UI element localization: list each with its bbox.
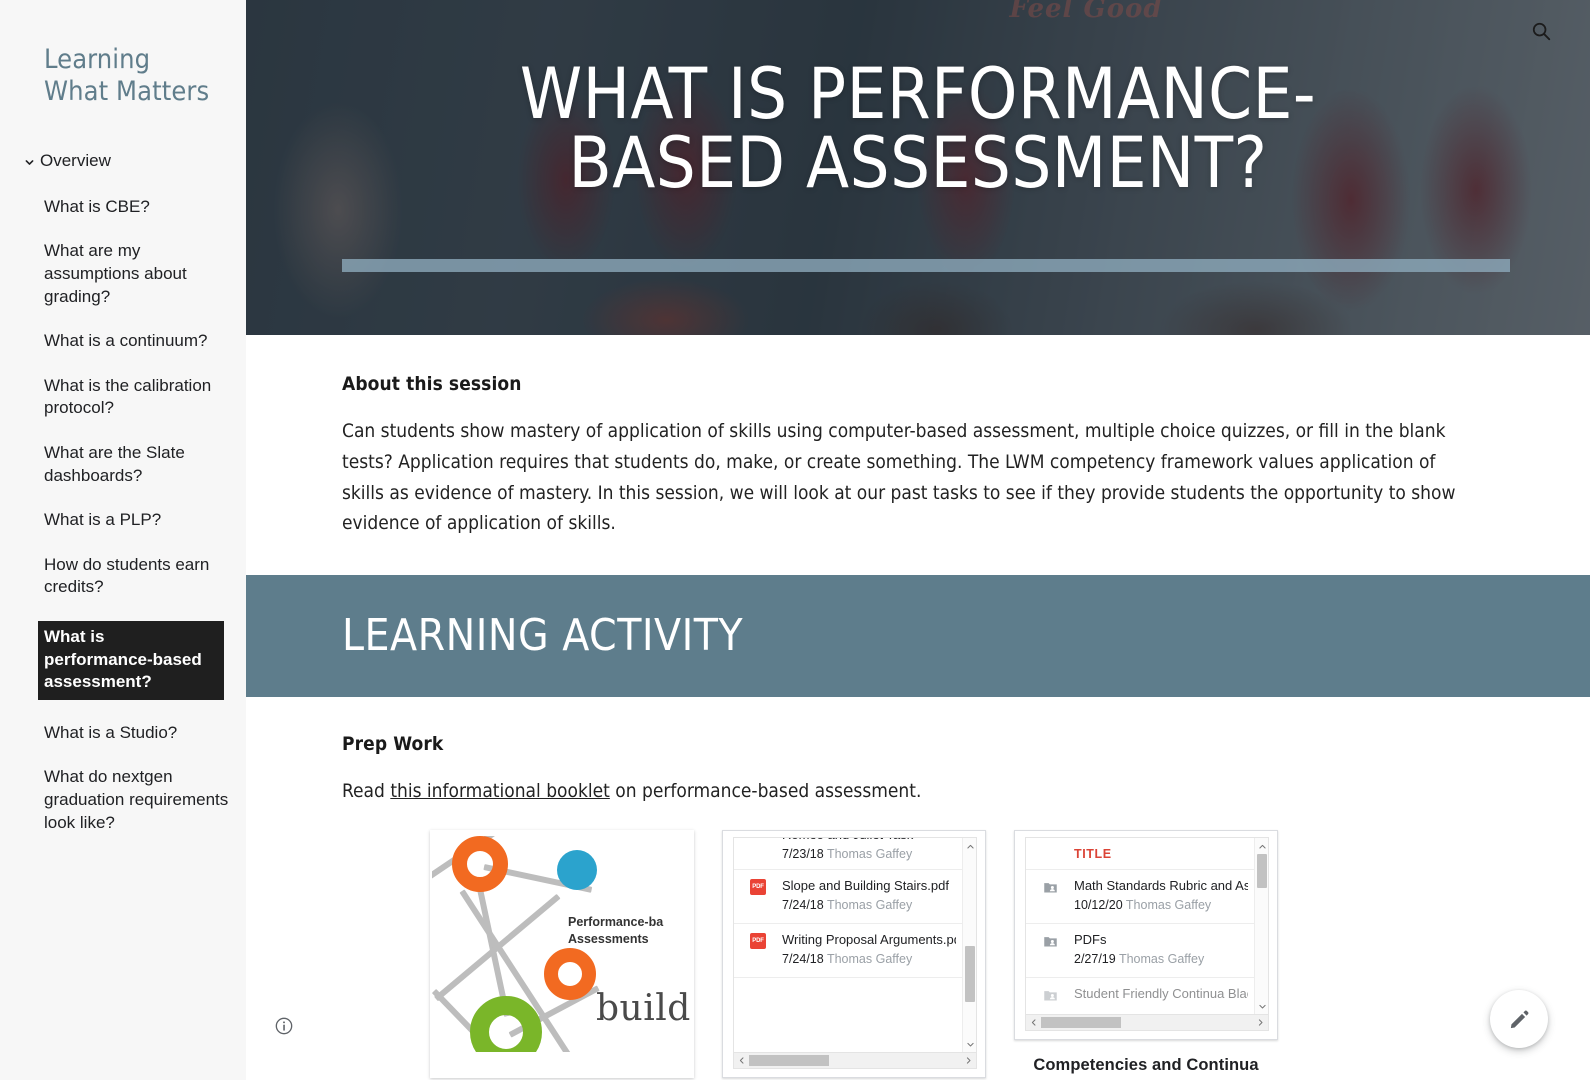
vertical-scrollbar[interactable] — [962, 838, 976, 1052]
scroll-down-icon[interactable] — [963, 1037, 977, 1051]
sidebar-item-what-is-cbe[interactable]: What is CBE? — [0, 196, 246, 219]
drive-body: TITLE Math Standards Rubric and Asses 10… — [1025, 837, 1269, 1014]
hero-inner: WHAT IS PERFORMANCE-BASED ASSESSMENT? — [246, 0, 1590, 335]
sidebar-item-calibration-protocol[interactable]: What is the calibration protocol? — [0, 375, 246, 420]
scroll-left-icon[interactable] — [734, 1053, 749, 1068]
info-icon[interactable] — [274, 1016, 296, 1038]
sidebar-group-overview[interactable]: Overview — [0, 150, 246, 174]
sidebar-item-assumptions-about-grading[interactable]: What are my assumptions about grading? — [0, 240, 246, 308]
sidebar: Learning What Matters Overview What is C… — [0, 0, 246, 1080]
list-item-owner: Thomas Gaffey — [1126, 898, 1211, 912]
list-item-date: 7/24/18 — [782, 898, 824, 912]
list-item-date: 7/23/18 — [782, 847, 824, 861]
scroll-up-icon[interactable] — [1255, 839, 1269, 853]
page-title: WHAT IS PERFORMANCE-BASED ASSESSMENT? — [428, 60, 1408, 199]
list-item-name: Math Standards Rubric and Asses — [1074, 877, 1248, 896]
poster-label-line2: Assessments — [568, 932, 649, 946]
main-content: Feel Good WHAT IS PERFORMANCE-BASED ASSE… — [246, 0, 1590, 1080]
list-item-owner: Thomas Gaffey — [827, 847, 912, 861]
horizontal-scrollbar[interactable] — [1025, 1014, 1269, 1031]
embed-card-files[interactable]: DOC Romeo and Juliet Task 7/23/18 Thomas… — [722, 830, 986, 1078]
scroll-down-icon[interactable] — [1255, 999, 1269, 1013]
learning-activity-banner: LEARNING ACTIVITY — [246, 575, 1590, 697]
drive-embed: DOC Romeo and Juliet Task 7/23/18 Thomas… — [723, 831, 985, 1077]
vertical-scrollbar[interactable] — [1254, 838, 1268, 1014]
drive-embed: TITLE Math Standards Rubric and Asses 10… — [1015, 831, 1277, 1039]
horizontal-scrollbar-thumb[interactable] — [1041, 1017, 1121, 1028]
list-item-name: Student Friendly Continua Black — [1074, 985, 1248, 1004]
about-heading: About this session — [342, 373, 1490, 395]
prep-work-text: Read this informational booklet on perfo… — [342, 776, 1490, 806]
sidebar-item-how-students-earn-credits[interactable]: How do students earn credits? — [0, 554, 246, 599]
folder-shared-icon — [1042, 987, 1058, 1003]
poster-dot-blue — [557, 850, 597, 890]
about-paragraph: Can students show mastery of application… — [342, 416, 1462, 539]
embed-card-competencies[interactable]: TITLE Math Standards Rubric and Asses 10… — [1014, 830, 1278, 1078]
chevron-down-icon[interactable] — [18, 152, 40, 174]
sidebar-item-slate-dashboards[interactable]: What are the Slate dashboards? — [0, 442, 246, 487]
drive-scroll-region[interactable]: DOC Romeo and Juliet Task 7/23/18 Thomas… — [734, 838, 962, 1052]
list-item-date: 2/27/19 — [1074, 952, 1116, 966]
poster-ring-orange — [452, 836, 508, 892]
list-item[interactable]: Math Standards Rubric and Asses 10/12/20… — [1026, 870, 1254, 924]
prep-work-section: Prep Work Read this informational bookle… — [246, 697, 1590, 1078]
scroll-left-icon[interactable] — [1026, 1015, 1041, 1030]
sidebar-item-performance-based-assessment[interactable]: What is performance-based assessment? — [38, 621, 224, 700]
horizontal-scrollbar[interactable] — [733, 1052, 977, 1069]
list-item-date: 10/12/20 — [1074, 898, 1123, 912]
list-item[interactable]: PDFs 2/27/19 Thomas Gaffey — [1026, 924, 1254, 978]
list-item[interactable]: PDF Writing Proposal Arguments.pdf 7/24/… — [734, 924, 962, 978]
pdf-icon: PDF — [750, 933, 766, 949]
list-item[interactable]: DOC Romeo and Juliet Task 7/23/18 Thomas… — [734, 838, 962, 870]
poster-frame[interactable]: Performance-ba Assessments buildin — [430, 830, 694, 1078]
drive-body: DOC Romeo and Juliet Task 7/23/18 Thomas… — [733, 837, 977, 1052]
scroll-right-icon[interactable] — [961, 1053, 976, 1068]
list-item-meta: 2/27/19 Thomas Gaffey — [1074, 952, 1248, 966]
list-item-name: PDFs — [1074, 931, 1248, 950]
drive-frame[interactable]: TITLE Math Standards Rubric and Asses 10… — [1014, 830, 1278, 1040]
poster-inner: Performance-ba Assessments buildin — [432, 836, 692, 1052]
embed-card-poster[interactable]: Performance-ba Assessments buildin — [430, 830, 694, 1078]
site-title[interactable]: Learning What Matters — [0, 0, 246, 108]
vertical-scrollbar-thumb[interactable] — [1257, 854, 1267, 888]
scroll-right-icon[interactable] — [1253, 1015, 1268, 1030]
poster-ring-green — [470, 996, 542, 1052]
list-item-meta: 10/12/20 Thomas Gaffey — [1074, 898, 1248, 912]
card-caption: Competencies and Continua — [1014, 1056, 1278, 1075]
prep-text-before: Read — [342, 780, 390, 802]
informational-booklet-link[interactable]: this informational booklet — [390, 780, 610, 802]
prep-work-heading: Prep Work — [342, 733, 1490, 755]
sidebar-item-nextgen-graduation-requirements[interactable]: What do nextgen graduation requirements … — [0, 766, 246, 834]
pdf-icon: PDF — [750, 879, 766, 895]
drive-frame[interactable]: DOC Romeo and Juliet Task 7/23/18 Thomas… — [722, 830, 986, 1078]
column-header-title[interactable]: TITLE — [1026, 838, 1254, 870]
poster-label-line1: Performance-ba — [568, 915, 663, 929]
pencil-icon — [1508, 1008, 1531, 1031]
list-item-meta: 7/24/18 Thomas Gaffey — [782, 898, 956, 912]
edit-fab-button[interactable] — [1490, 990, 1548, 1048]
prep-text-after: on performance-based assessment. — [610, 780, 922, 802]
poster-wordmark: buildin — [596, 988, 692, 1029]
list-item-owner: Thomas Gaffey — [827, 898, 912, 912]
sidebar-group-label: Overview — [40, 150, 111, 173]
hero-accent-bar — [342, 259, 1510, 272]
list-item-name: Romeo and Juliet Task — [782, 838, 956, 845]
list-item-meta: 7/24/18 Thomas Gaffey — [782, 952, 956, 966]
sidebar-item-what-is-a-plp[interactable]: What is a PLP? — [0, 509, 246, 532]
sidebar-nav: Overview What is CBE? What are my assump… — [0, 150, 246, 835]
list-item-owner: Thomas Gaffey — [827, 952, 912, 966]
sidebar-item-what-is-a-studio[interactable]: What is a Studio? — [0, 722, 246, 745]
list-item[interactable]: Student Friendly Continua Black — [1026, 978, 1254, 1014]
page-root: Learning What Matters Overview What is C… — [0, 0, 1590, 1080]
search-icon[interactable] — [1524, 14, 1558, 48]
sidebar-item-what-is-a-continuum[interactable]: What is a continuum? — [0, 330, 246, 353]
vertical-scrollbar-thumb[interactable] — [965, 946, 975, 1002]
list-item-owner: Thomas Gaffey — [1119, 952, 1204, 966]
learning-activity-title: LEARNING ACTIVITY — [342, 614, 743, 658]
list-item-name: Slope and Building Stairs.pdf — [782, 877, 956, 896]
poster-art: Performance-ba Assessments buildin — [430, 830, 694, 1078]
folder-shared-icon — [1042, 879, 1058, 895]
scroll-up-icon[interactable] — [963, 839, 977, 853]
poster-label: Performance-ba Assessments — [568, 914, 663, 948]
about-section: About this session Can students show mas… — [246, 335, 1590, 575]
hero-banner: Feel Good WHAT IS PERFORMANCE-BASED ASSE… — [246, 0, 1590, 335]
drive-scroll-region[interactable]: TITLE Math Standards Rubric and Asses 10… — [1026, 838, 1254, 1014]
folder-shared-icon — [1042, 933, 1058, 949]
list-item-meta: 7/23/18 Thomas Gaffey — [782, 847, 956, 861]
list-item-name: Writing Proposal Arguments.pdf — [782, 931, 956, 950]
list-item-date: 7/24/18 — [782, 952, 824, 966]
horizontal-scrollbar-thumb[interactable] — [749, 1055, 829, 1066]
embed-cards-row: Performance-ba Assessments buildin — [342, 806, 1490, 1078]
list-item[interactable]: PDF Slope and Building Stairs.pdf 7/24/1… — [734, 870, 962, 924]
